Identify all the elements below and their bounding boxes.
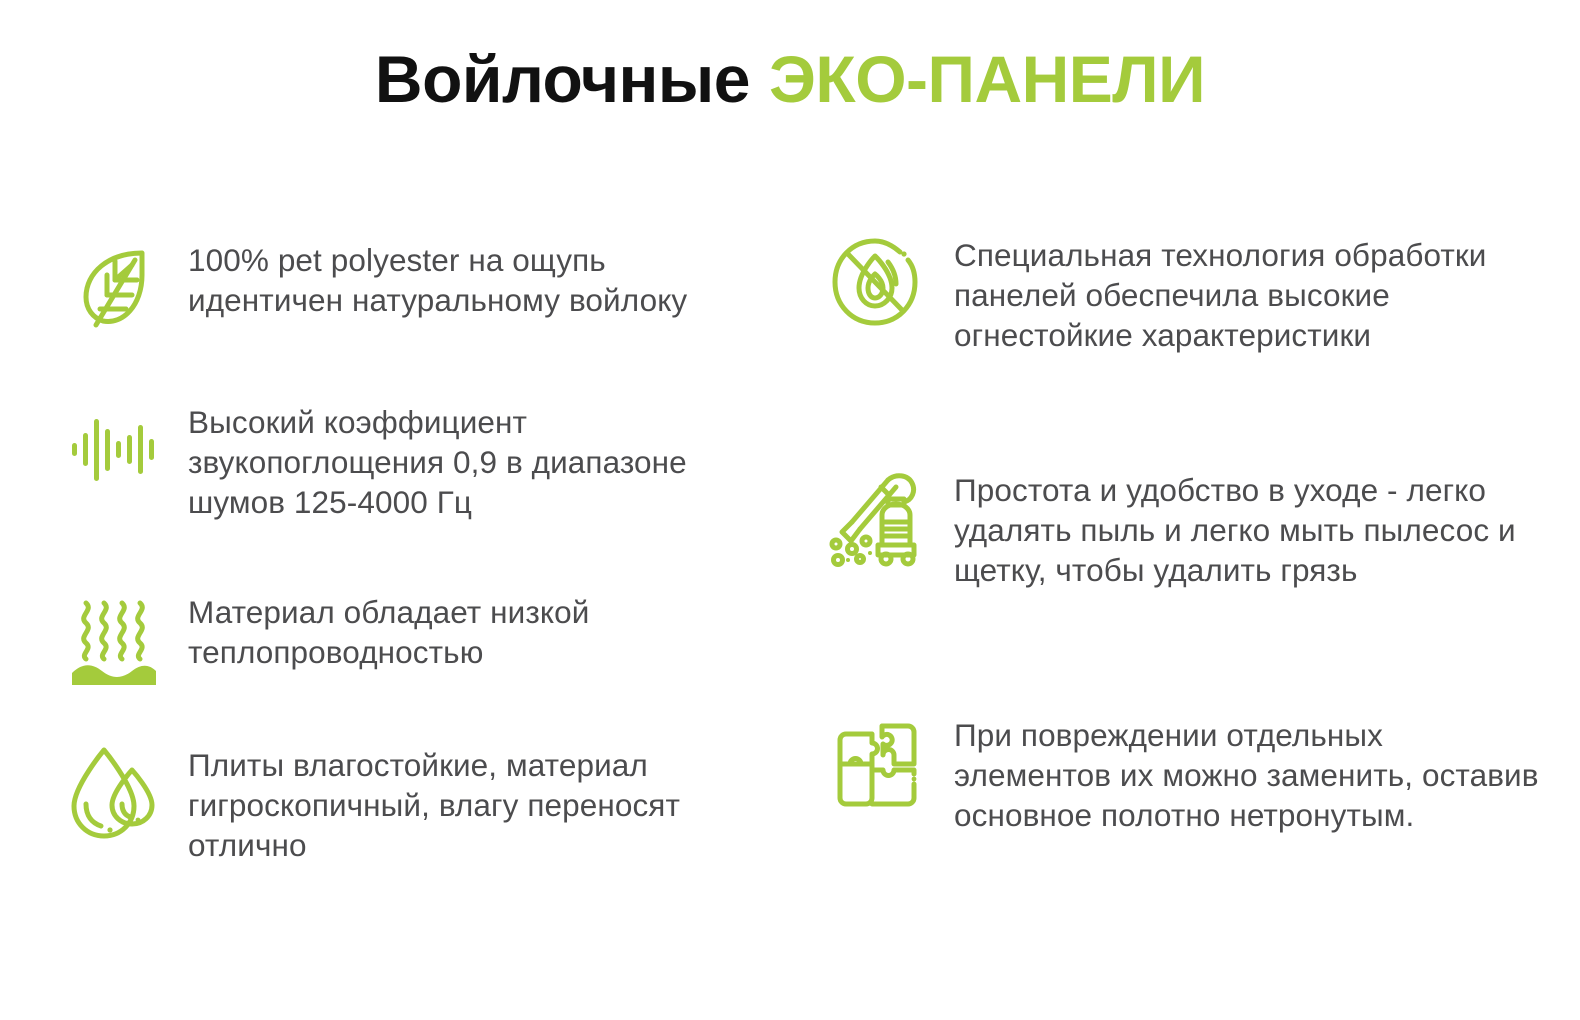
page-title-black-part: Войлочные (375, 42, 750, 116)
feature-item-replaceable: При повреждении отдельных элементов их м… (824, 710, 1544, 835)
water-drop-icon (62, 740, 166, 844)
vacuum-cleaner-icon (824, 465, 928, 569)
feature-text: Плиты влагостойкие, материал гигроскопич… (188, 740, 762, 865)
page-title: ВойлочныеЭКО-ПАНЕЛИ (0, 46, 1580, 112)
leaf-icon (62, 235, 166, 339)
feature-item-thermal: Материал обладает низкой теплопроводност… (62, 587, 762, 691)
feature-text: Материал обладает низкой теплопроводност… (188, 587, 762, 672)
sound-wave-icon (62, 397, 166, 501)
feature-columns: 100% pet polyester на ощупь идентичен на… (0, 222, 1580, 942)
no-fire-icon (824, 230, 928, 334)
feature-item-fire-resistant: Специальная технология обработки панелей… (824, 230, 1544, 355)
feature-text: 100% pet polyester на ощупь идентичен на… (188, 235, 762, 320)
feature-text: Простота и удобство в уходе - легко удал… (954, 465, 1544, 590)
feature-text: Специальная технология обработки панелей… (954, 230, 1544, 355)
feature-item-moisture: Плиты влагостойкие, материал гигроскопич… (62, 740, 762, 865)
feature-text: Высокий коэффициент звукопоглощения 0,9 … (188, 397, 762, 522)
feature-item-polyester: 100% pet polyester на ощупь идентичен на… (62, 235, 762, 339)
heat-waves-icon (62, 587, 166, 691)
puzzle-pieces-icon (824, 710, 928, 814)
feature-text: При повреждении отдельных элементов их м… (954, 710, 1544, 835)
page-title-green-part: ЭКО-ПАНЕЛИ (769, 42, 1205, 116)
feature-item-easy-care: Простота и удобство в уходе - легко удал… (824, 465, 1544, 590)
feature-item-sound-absorption: Высокий коэффициент звукопоглощения 0,9 … (62, 397, 762, 522)
